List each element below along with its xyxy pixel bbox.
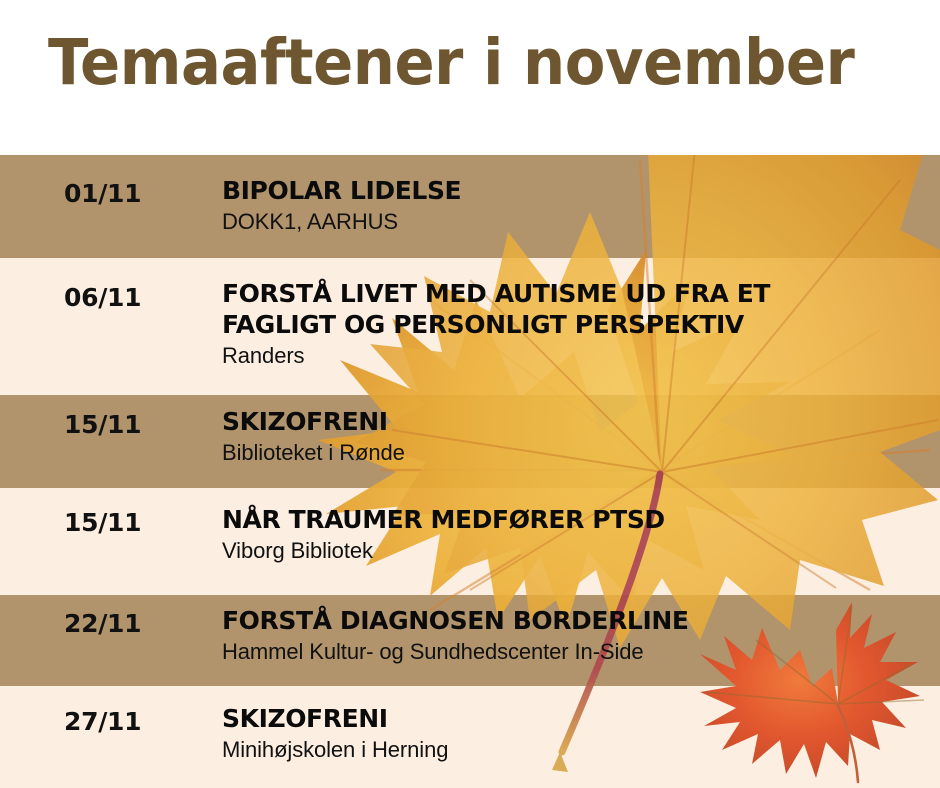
event-row: 15/11 NÅR TRAUMER MEDFØRER PTSD Viborg B… <box>0 488 940 595</box>
event-title: SKIZOFRENI <box>222 703 930 734</box>
event-title: BIPOLAR LIDELSE <box>222 175 930 206</box>
event-content: SKIZOFRENI Minihøjskolen i Herning <box>222 703 930 764</box>
event-content: FORSTÅ LIVET MED AUTISME UD FRA ET FAGLI… <box>222 278 930 370</box>
event-date: 01/11 <box>64 179 141 208</box>
event-title: SKIZOFRENI <box>222 406 930 437</box>
event-content: SKIZOFRENI Biblioteket i Rønde <box>222 406 930 467</box>
event-venue: Randers <box>222 342 930 370</box>
event-date: 15/11 <box>64 410 141 439</box>
event-title: FORSTÅ LIVET MED AUTISME UD FRA ET FAGLI… <box>222 278 930 340</box>
event-title: NÅR TRAUMER MEDFØRER PTSD <box>222 504 930 535</box>
event-title: FORSTÅ DIAGNOSEN BORDERLINE <box>222 605 930 636</box>
event-list: 01/11 BIPOLAR LIDELSE DOKK1, AARHUS 06/1… <box>0 155 940 788</box>
event-row: 22/11 FORSTÅ DIAGNOSEN BORDERLINE Hammel… <box>0 595 940 686</box>
event-venue: Viborg Bibliotek <box>222 537 930 565</box>
event-venue: DOKK1, AARHUS <box>222 208 930 236</box>
title-area: Temaaftener i november <box>0 0 940 155</box>
event-content: NÅR TRAUMER MEDFØRER PTSD Viborg Bibliot… <box>222 504 930 565</box>
event-row: 01/11 BIPOLAR LIDELSE DOKK1, AARHUS <box>0 155 940 258</box>
page-title: Temaaftener i november <box>48 26 854 99</box>
event-row: 15/11 SKIZOFRENI Biblioteket i Rønde <box>0 395 940 488</box>
event-content: BIPOLAR LIDELSE DOKK1, AARHUS <box>222 175 930 236</box>
event-date: 22/11 <box>64 609 141 638</box>
event-venue: Biblioteket i Rønde <box>222 439 930 467</box>
event-venue: Hammel Kultur- og Sundhedscenter In-Side <box>222 638 930 666</box>
event-poster: 01/11 BIPOLAR LIDELSE DOKK1, AARHUS 06/1… <box>0 0 940 788</box>
event-content: FORSTÅ DIAGNOSEN BORDERLINE Hammel Kultu… <box>222 605 930 666</box>
event-row: 27/11 SKIZOFRENI Minihøjskolen i Herning <box>0 686 940 788</box>
event-venue: Minihøjskolen i Herning <box>222 736 930 764</box>
event-date: 27/11 <box>64 707 141 736</box>
event-date: 06/11 <box>64 283 141 312</box>
event-date: 15/11 <box>64 508 141 537</box>
event-row: 06/11 FORSTÅ LIVET MED AUTISME UD FRA ET… <box>0 258 940 395</box>
